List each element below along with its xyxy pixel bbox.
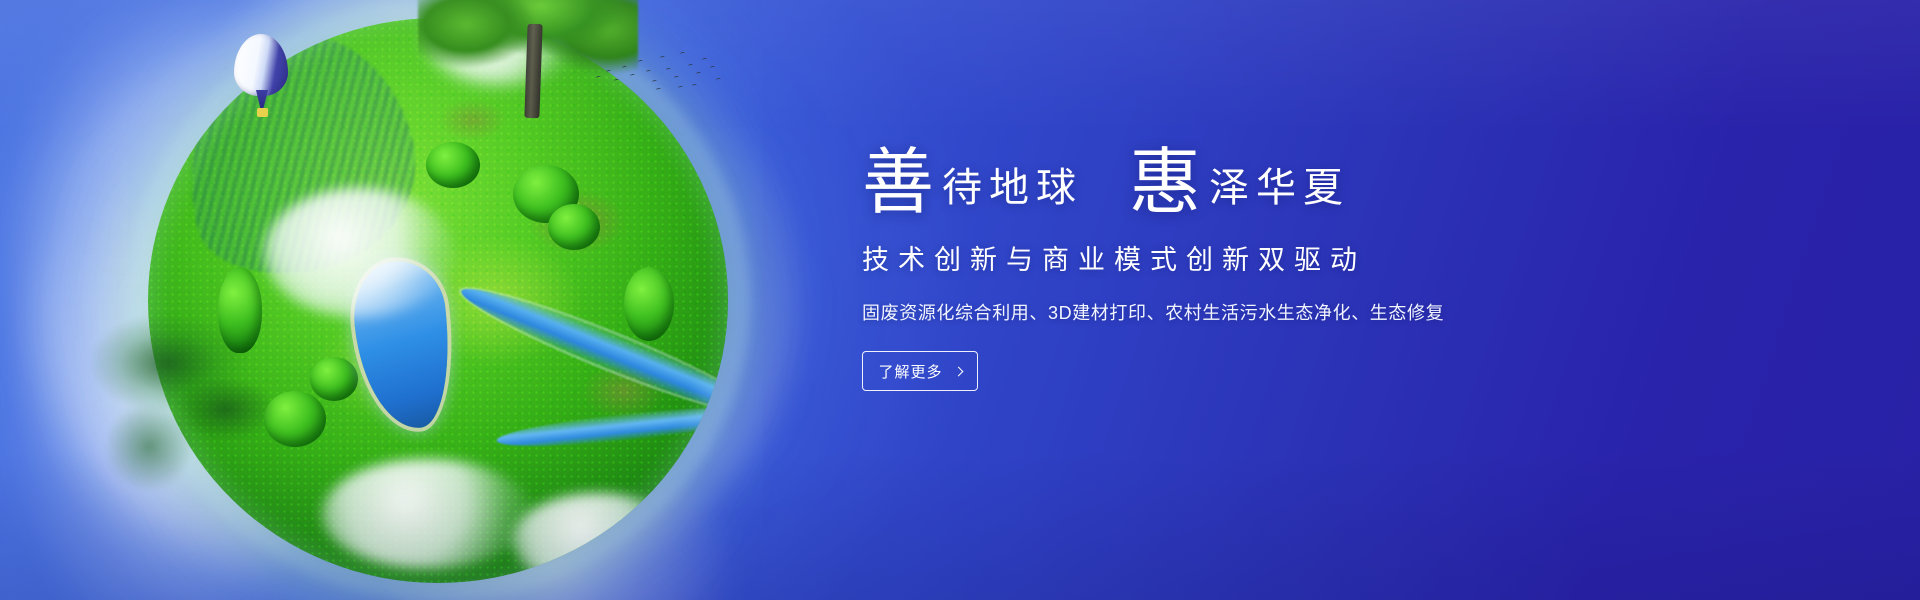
bird-icon bbox=[660, 56, 666, 60]
bird-icon bbox=[638, 60, 644, 64]
balloon-envelope bbox=[234, 34, 288, 96]
cloud bbox=[513, 493, 683, 583]
bird-icon bbox=[696, 72, 702, 76]
balloon-basket bbox=[257, 108, 268, 117]
tree-trunk bbox=[524, 24, 542, 118]
bird-icon bbox=[622, 66, 628, 70]
headline-rest-chars: 待地球 bbox=[942, 168, 1083, 208]
bird-icon bbox=[678, 86, 684, 90]
learn-more-label: 了解更多 bbox=[878, 361, 942, 382]
bird-icon bbox=[596, 76, 602, 80]
chevron-right-icon bbox=[953, 366, 963, 376]
side-tree bbox=[92, 300, 282, 510]
bird-icon bbox=[674, 76, 680, 80]
balloon-tail bbox=[256, 90, 268, 108]
hot-air-balloon-icon bbox=[234, 34, 290, 122]
bird-icon bbox=[702, 58, 708, 62]
hero-banner: 善 待地球 惠 泽华夏 技术创新与商业模式创新双驱动 固废资源化综合利用、3D建… bbox=[0, 0, 1920, 600]
bird-icon bbox=[646, 70, 652, 74]
page-description: 固废资源化综合利用、3D建材打印、农村生活污水生态净化、生态修复 bbox=[862, 299, 1722, 325]
bird-icon bbox=[692, 84, 698, 88]
bird-icon bbox=[630, 74, 636, 78]
headline-rest-chars: 泽华夏 bbox=[1209, 168, 1350, 208]
learn-more-button[interactable]: 了解更多 bbox=[862, 351, 978, 391]
cloud bbox=[322, 459, 532, 569]
bird-icon bbox=[606, 70, 612, 74]
tree-canopy bbox=[624, 267, 674, 341]
page-title: 善 待地球 惠 泽华夏 bbox=[862, 128, 1722, 212]
bird-icon bbox=[680, 52, 686, 56]
bird-icon bbox=[656, 88, 662, 92]
headline-lead-char: 惠 bbox=[1129, 150, 1201, 216]
hero-content: 善 待地球 惠 泽华夏 技术创新与商业模式创新双驱动 固废资源化综合利用、3D建… bbox=[862, 128, 1722, 391]
bird-icon bbox=[688, 64, 694, 68]
bird-icon bbox=[652, 80, 658, 84]
headline-group-2: 惠 泽华夏 bbox=[1129, 146, 1350, 212]
hero-illustration bbox=[0, 0, 980, 600]
birds-flock-icon bbox=[592, 46, 722, 94]
bird-icon bbox=[710, 66, 716, 70]
headline-group-1: 善 待地球 bbox=[862, 146, 1083, 212]
headline-lead-char: 善 bbox=[862, 150, 934, 216]
bird-icon bbox=[716, 78, 722, 82]
bird-icon bbox=[666, 68, 672, 72]
cloud bbox=[264, 188, 454, 318]
page-subtitle: 技术创新与商业模式创新双驱动 bbox=[862, 238, 1722, 277]
bird-icon bbox=[614, 79, 620, 83]
